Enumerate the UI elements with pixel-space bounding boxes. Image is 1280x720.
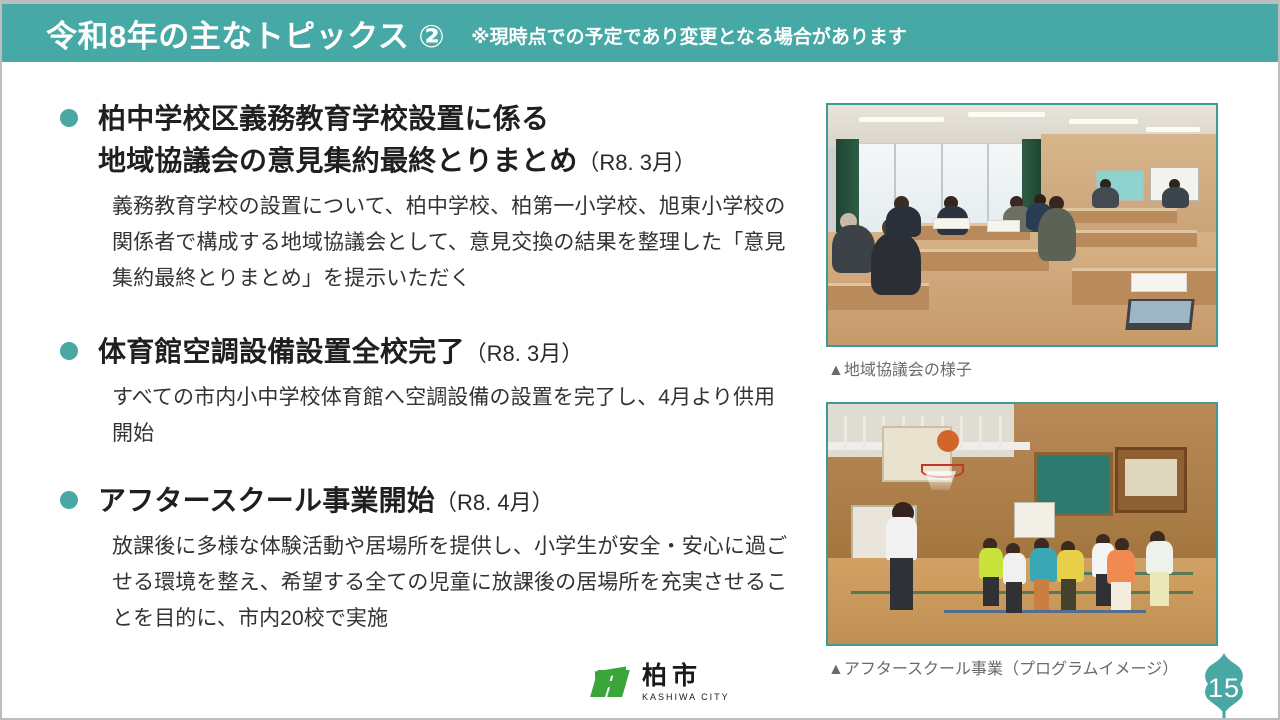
- topic-heading: 柏中学校区義務教育学校設置に係る 地域協議会の意見集約最終とりまとめ（R8. 3…: [60, 98, 790, 184]
- topic-item: 柏中学校区義務教育学校設置に係る 地域協議会の意見集約最終とりまとめ（R8. 3…: [60, 98, 790, 297]
- topic-title: 体育館空調設備設置全校完了（R8. 3月）: [98, 331, 583, 375]
- topic-title-line2: 地域協議会の意見集約最終とりまとめ: [98, 145, 577, 176]
- kashiwa-logo-mark-icon: [592, 666, 632, 700]
- page-number: 15: [1194, 652, 1254, 720]
- topic-title: 柏中学校区義務教育学校設置に係る 地域協議会の意見集約最終とりまとめ（R8. 3…: [98, 98, 696, 184]
- photo-afterschool: [826, 402, 1218, 646]
- photo-column: ▲地域協議会の様子: [826, 103, 1222, 679]
- photo-caption-meeting: ▲地域協議会の様子: [828, 356, 1222, 380]
- topic-title: アフタースクール事業開始（R8. 4月）: [98, 480, 554, 524]
- topic-body: 義務教育学校の設置について、柏中学校、柏第一小学校、旭東小学校の関係者で構成する…: [112, 189, 790, 297]
- topic-body: 放課後に多様な体験活動や居場所を提供し、小学生が安全・安心に過ごせる環境を整え、…: [112, 529, 790, 637]
- topic-body: すべての市内小中学校体育館へ空調設備の設置を完了し、4月より供用開始: [112, 380, 790, 452]
- topic-item: 体育館空調設備設置全校完了（R8. 3月） すべての市内小中学校体育館へ空調設備…: [60, 331, 790, 452]
- bullet-dot-icon: [60, 491, 78, 509]
- topic-date: （R8. 4月）: [435, 490, 554, 515]
- slide: 令和8年の主なトピックス ② ※現時点での予定であり変更となる場合があります 柏…: [0, 0, 1280, 720]
- photo-meeting: [826, 103, 1218, 347]
- topic-title-line1: 柏中学校区義務教育学校設置に係る: [98, 103, 549, 134]
- topic-list: 柏中学校区義務教育学校設置に係る 地域協議会の意見集約最終とりまとめ（R8. 3…: [60, 98, 790, 637]
- page-number-badge: 15: [1194, 652, 1254, 720]
- topic-heading: 体育館空調設備設置全校完了（R8. 3月）: [60, 331, 790, 375]
- topic-item: アフタースクール事業開始（R8. 4月） 放課後に多様な体験活動や居場所を提供し…: [60, 480, 790, 637]
- spacer: [60, 452, 790, 480]
- topic-title-line1: アフタースクール事業開始: [98, 485, 435, 516]
- logo-japanese: 柏市: [642, 664, 730, 689]
- slide-header: 令和8年の主なトピックス ② ※現時点での予定であり変更となる場合があります: [2, 4, 1278, 62]
- bullet-dot-icon: [60, 342, 78, 360]
- logo-text: 柏市 KASHIWA CITY: [642, 664, 730, 702]
- photo-caption-afterschool: ▲アフタースクール事業（プログラムイメージ）: [828, 655, 1222, 679]
- spacer: [826, 380, 1222, 402]
- spacer: [60, 297, 790, 331]
- topic-title-line1: 体育館空調設備設置全校完了: [98, 336, 465, 367]
- topic-date: （R8. 3月）: [577, 150, 696, 175]
- topic-date: （R8. 3月）: [465, 341, 584, 366]
- header-note: ※現時点での予定であり変更となる場合があります: [471, 18, 907, 49]
- bullet-dot-icon: [60, 109, 78, 127]
- topic-heading: アフタースクール事業開始（R8. 4月）: [60, 480, 790, 524]
- page-title: 令和8年の主なトピックス ②: [46, 11, 445, 56]
- kashiwa-city-logo: 柏市 KASHIWA CITY: [592, 664, 730, 702]
- logo-english: KASHIWA CITY: [642, 693, 730, 702]
